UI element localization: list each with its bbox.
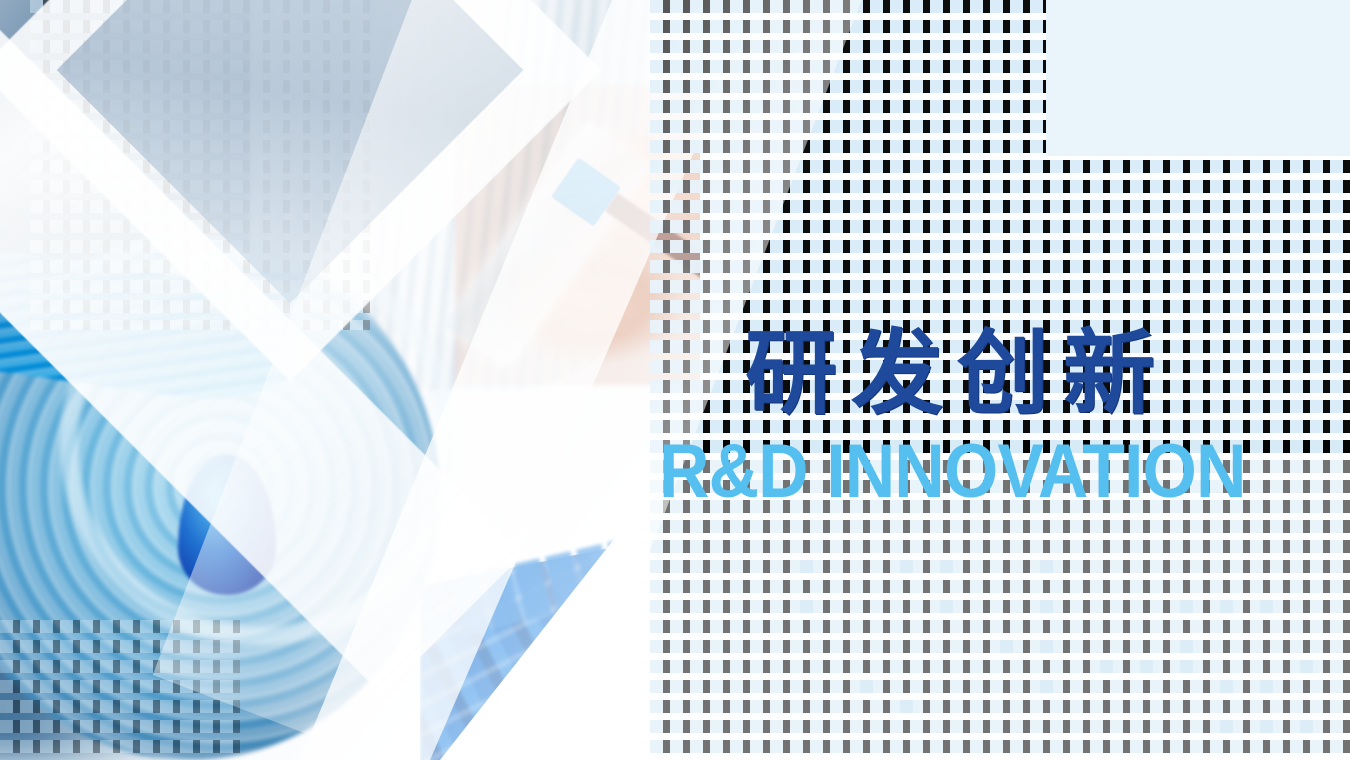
page-title: 研发创新 — [745, 322, 1350, 426]
logo-panel: 恒瑞 — [1046, 0, 1350, 156]
pixel-fleck — [1040, 640, 1053, 653]
pixel-fleck — [1260, 600, 1273, 613]
page-subtitle: R&D INNOVATION — [659, 432, 1295, 512]
pixel-fleck — [1040, 680, 1053, 693]
pixel-fleck — [940, 600, 953, 613]
pixel-fleck — [1300, 720, 1313, 733]
pixel-fleck — [1220, 680, 1233, 693]
pixel-fleck — [1140, 660, 1153, 673]
pixel-fleck — [1180, 600, 1193, 613]
pixel-fleck — [1180, 660, 1193, 673]
pixel-fleck — [1220, 720, 1233, 733]
pixel-fleck — [1040, 600, 1053, 613]
pixel-fleck — [800, 560, 813, 573]
pixel-fleck — [940, 560, 953, 573]
pixel-fleck — [1040, 560, 1053, 573]
pixel-fleck — [1300, 660, 1313, 673]
pixel-fleck — [1180, 640, 1193, 653]
headline-block: 研发创新 R&D INNOVATION — [745, 322, 1350, 512]
pixel-fleck — [860, 680, 873, 693]
rd-innovation-banner: 恒瑞 研发创新 R&D INNOVATION — [0, 0, 1350, 760]
pixel-fleck — [1220, 600, 1233, 613]
pixel-fleck — [900, 560, 913, 573]
pixel-fleck — [1000, 640, 1013, 653]
pixel-fleck — [1260, 720, 1273, 733]
pixel-fleck — [800, 600, 813, 613]
pixel-fleck — [1260, 680, 1273, 693]
pixel-fleck — [1100, 660, 1113, 673]
pixel-fleck — [900, 700, 913, 713]
